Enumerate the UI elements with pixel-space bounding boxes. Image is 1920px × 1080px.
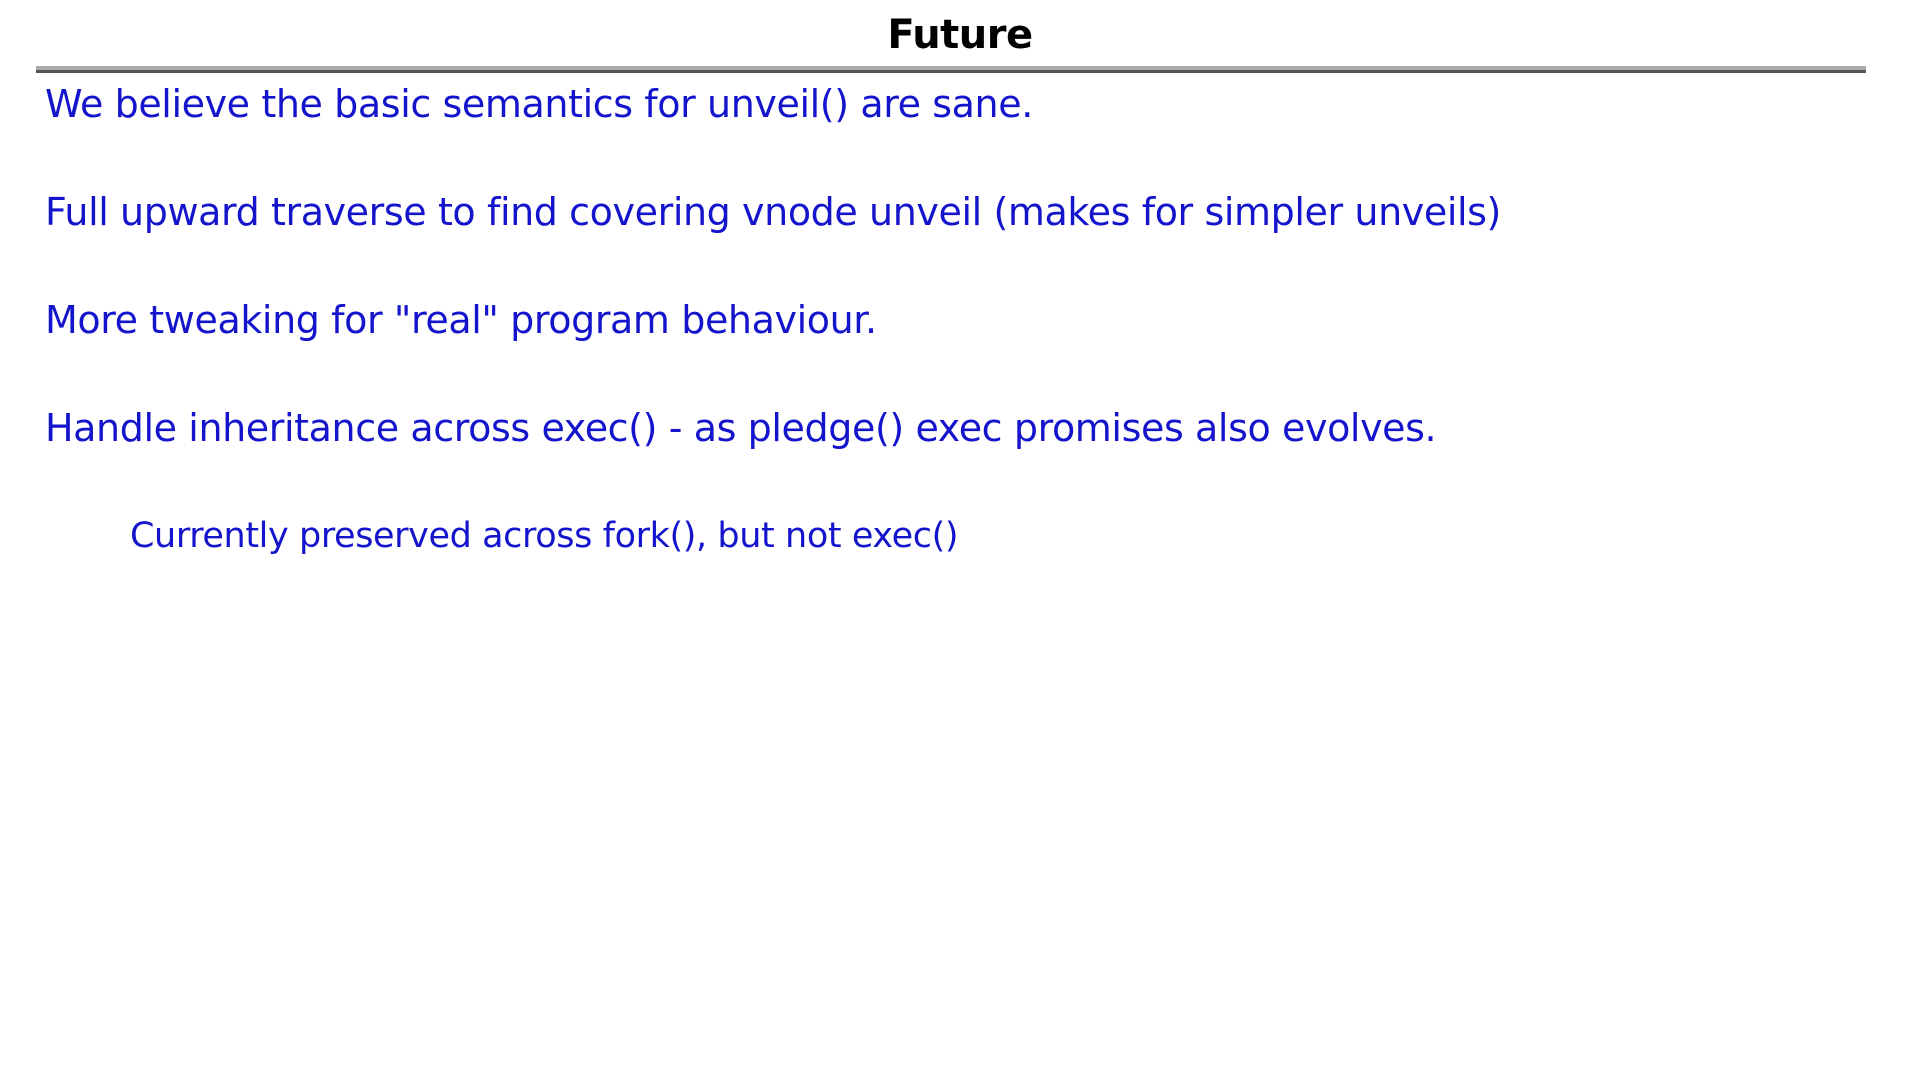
bullet-item-5-sub: Currently preserved across fork(), but n… — [130, 514, 1885, 558]
page-title: Future — [0, 12, 1920, 58]
bullet-item-3: More tweaking for "real" program behavio… — [45, 298, 1885, 342]
bullet-item-2: Full upward traverse to find covering vn… — [45, 190, 1885, 234]
bullet-item-1: We believe the basic semantics for unvei… — [45, 82, 1885, 126]
slide-body: We believe the basic semantics for unvei… — [45, 82, 1885, 622]
title-divider — [36, 66, 1866, 73]
divider-dark-band — [36, 70, 1866, 73]
bullet-item-4: Handle inheritance across exec() - as pl… — [45, 406, 1885, 450]
presentation-slide: Future We believe the basic semantics fo… — [0, 0, 1920, 1080]
